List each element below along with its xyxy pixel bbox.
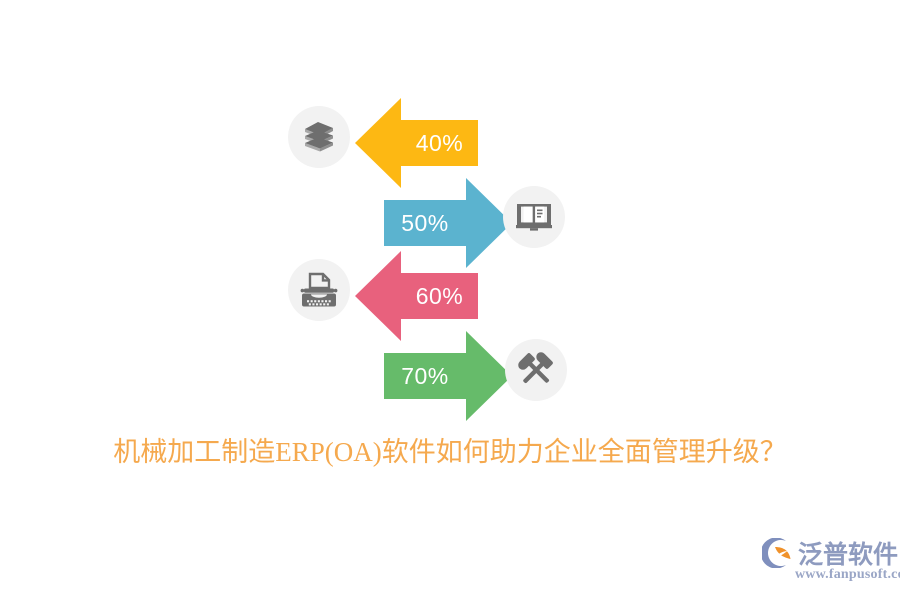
typewriter-badge	[288, 259, 350, 321]
logo-url: www.fanpusoft.com	[795, 567, 900, 583]
open-book-icon	[515, 200, 553, 234]
infographic-row-70: 70%	[384, 331, 574, 421]
logo-name: 泛普软件	[798, 535, 898, 571]
arrow-60: 60%	[355, 251, 478, 341]
fanpu-logo-mark-icon	[762, 538, 796, 573]
crossed-hammers-badge	[505, 339, 567, 401]
infographic-row-60: 60%	[288, 251, 488, 341]
crossed-hammers-icon	[517, 351, 555, 389]
arrow-70: 70%	[384, 331, 512, 421]
infographic-row-40: 40%	[288, 98, 488, 188]
page-title: 机械加工制造ERP(OA)软件如何助力企业全面管理升级？	[0, 430, 900, 469]
open-book-badge	[503, 186, 565, 248]
stacked-books-badge	[288, 106, 350, 168]
arrow-40: 40%	[355, 98, 478, 188]
typewriter-icon	[299, 272, 339, 308]
brand-logo: 泛普软件 www.fanpusoft.com	[762, 534, 892, 586]
stacked-books-icon	[300, 119, 338, 155]
poster-canvas: 40% 50%	[0, 0, 900, 600]
